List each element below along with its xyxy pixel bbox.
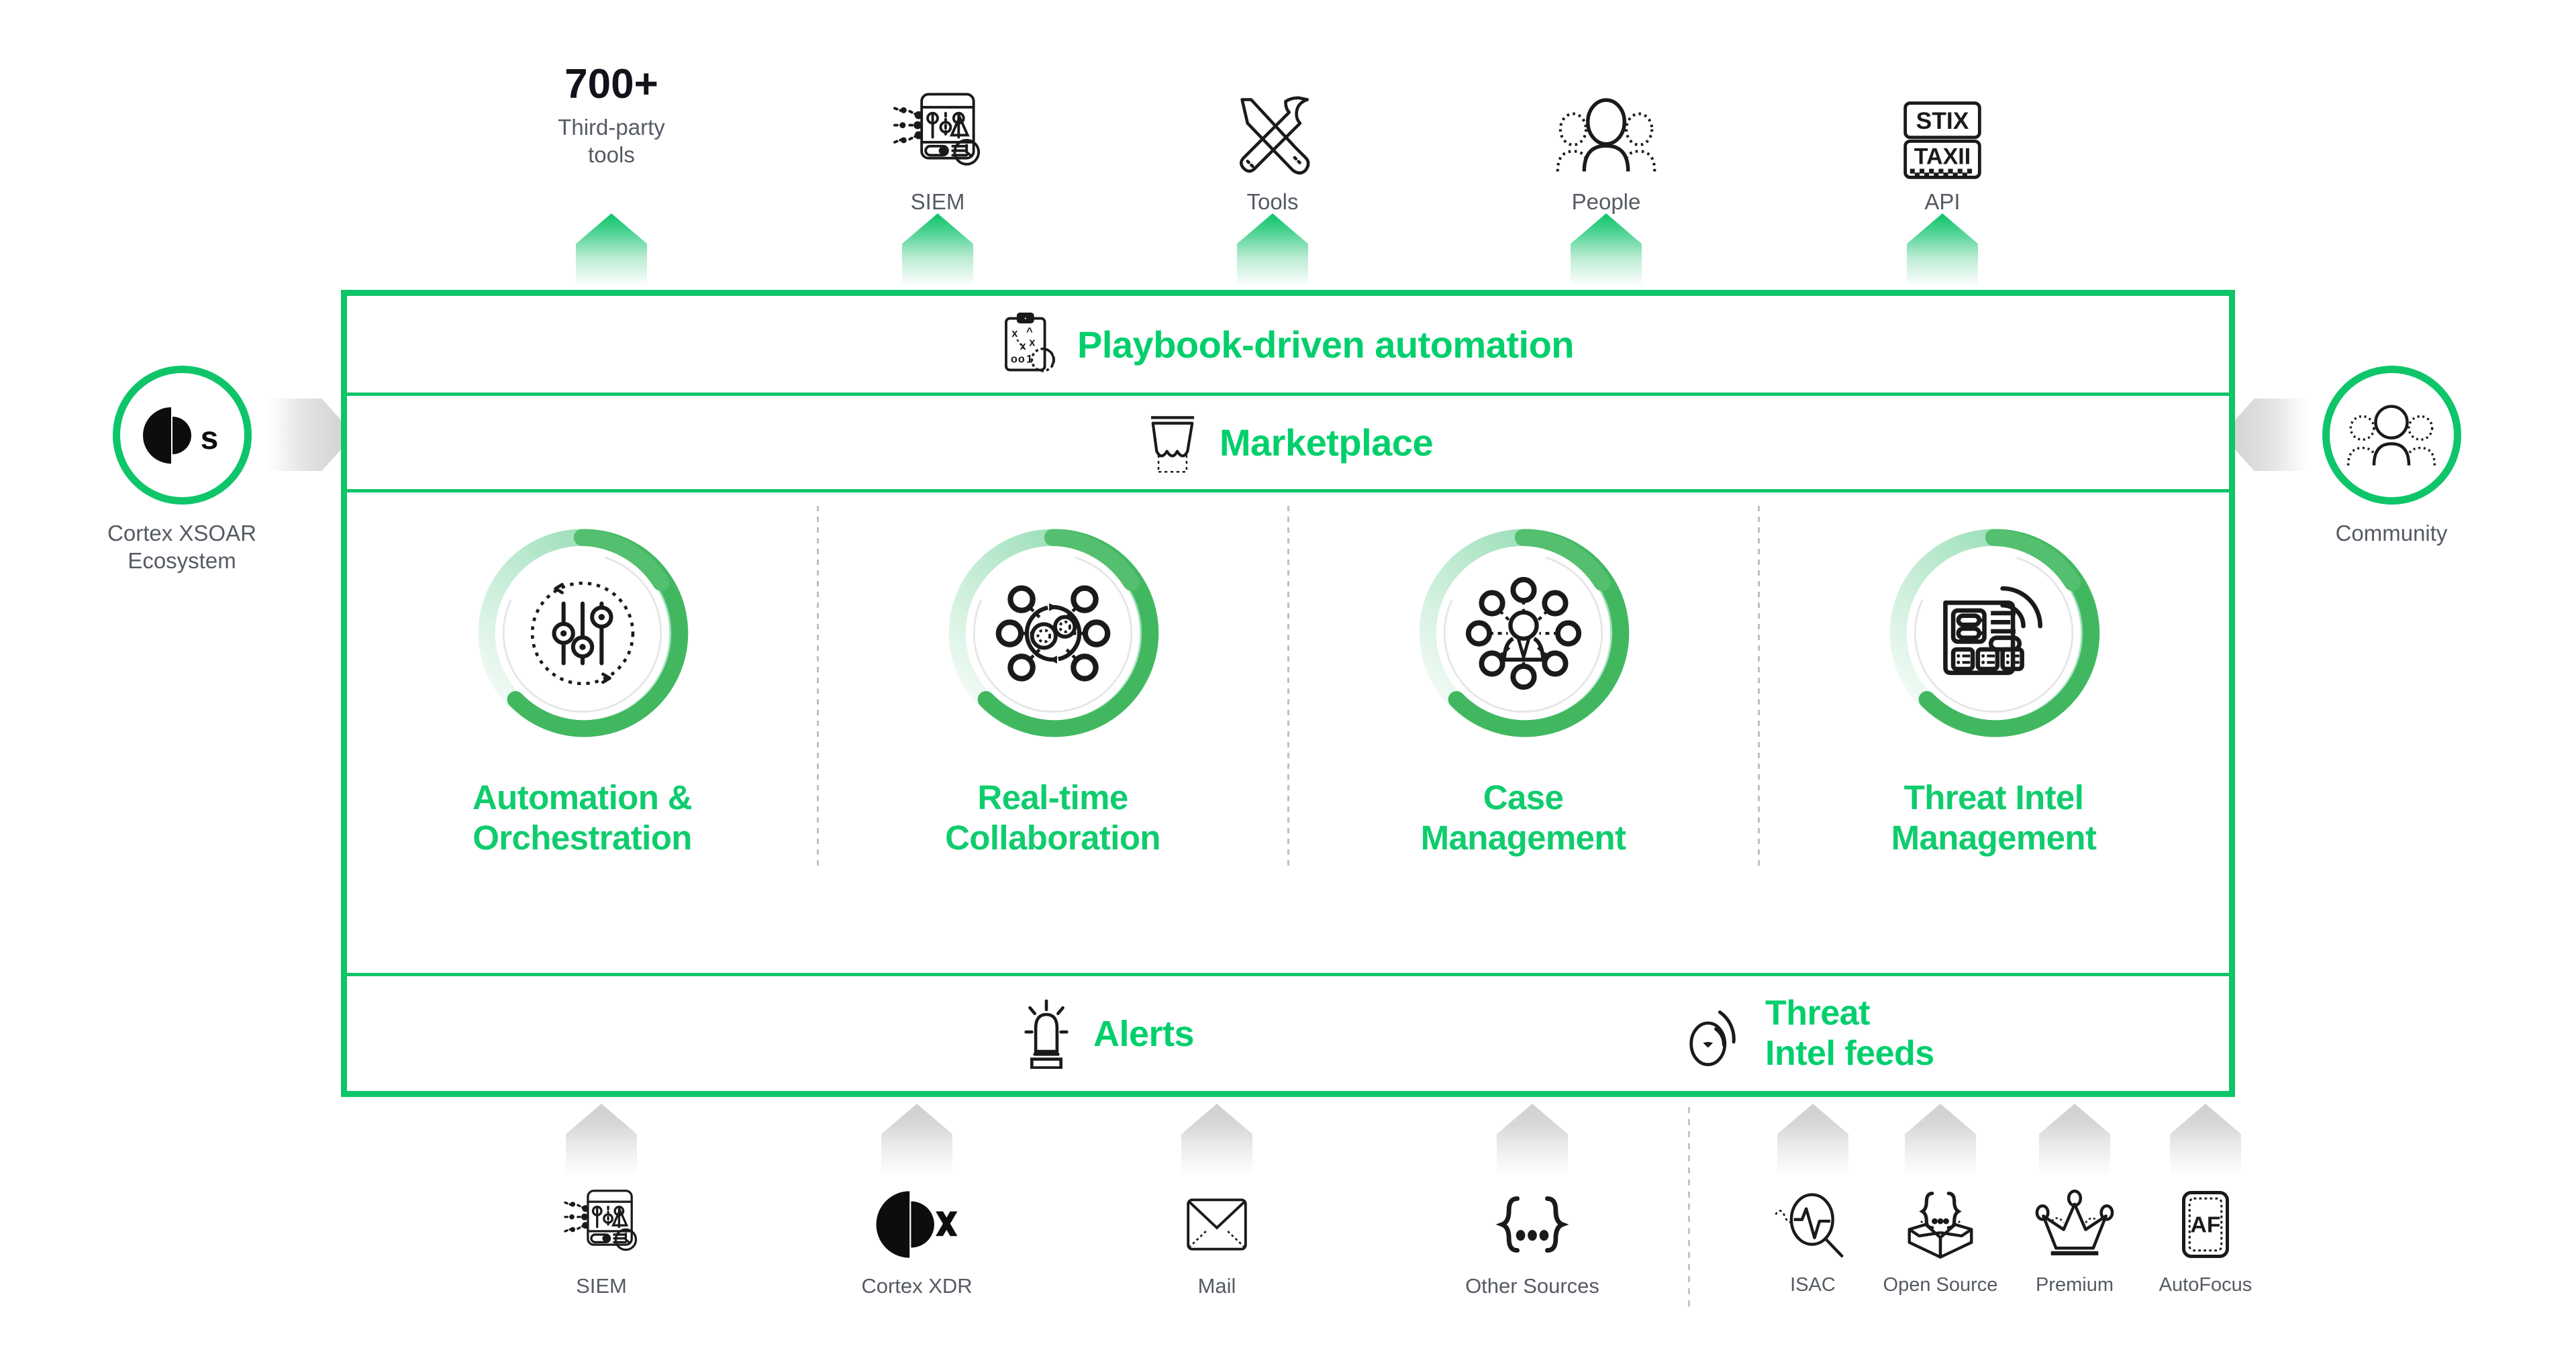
left-node-cortex-xsoar-ecosystem: s Cortex XSOAR Ecosystem <box>68 366 296 575</box>
flow-arrow-up-open-source <box>1905 1104 1976 1176</box>
capability-ring-threat-intel <box>1881 521 2106 745</box>
panel-row-marketplace: Marketplace <box>347 396 2229 489</box>
left-node-label: Cortex XSOAR Ecosystem <box>68 519 296 575</box>
bottom-source-label-cortex-xdr: Cortex XDR <box>816 1274 1018 1298</box>
capability-label-threat-intel: Threat Intel Management <box>1891 778 2097 858</box>
capability-real-time-collaboration[interactable]: Real-time Collaboration <box>818 492 1288 973</box>
threat-intel-card-icon <box>1935 569 2054 688</box>
panel-row-bottom: Alerts Threat <box>347 976 2229 1091</box>
capability-divider-3 <box>1758 506 1760 868</box>
top-output-label-api: API <box>1842 188 2043 215</box>
third-party-count: 700+ <box>511 64 712 105</box>
panel-bottom-alerts: Alerts <box>1018 976 1194 1091</box>
svg-text:s: s <box>201 421 219 456</box>
taxii-badge-text: TAXII <box>1914 144 1971 169</box>
sliders-rotate-icon <box>526 576 640 690</box>
svg-text:x: x <box>1011 327 1018 339</box>
community-people-icon <box>2344 401 2438 470</box>
capability-columns: Automation & Orchestration <box>347 492 2229 973</box>
top-output-label-siem: SIEM <box>837 188 1038 215</box>
autofocus-af-icon: AF <box>2105 1184 2306 1265</box>
bottom-source-label-mail: Mail <box>1116 1274 1318 1298</box>
xsoar-platform-panel: x^ xx oo1 Playbook-driven automation <box>341 290 2235 1097</box>
playbook-clipboard-icon: x^ xx oo1 <box>1002 312 1060 376</box>
capability-divider-1 <box>817 506 819 868</box>
feed-wave-icon <box>1686 998 1748 1069</box>
svg-text:^: ^ <box>1026 325 1033 337</box>
flow-arrow-up-api <box>1907 213 1978 286</box>
flow-arrow-up-siem-source <box>566 1104 637 1176</box>
flow-arrow-up-other-sources <box>1497 1104 1568 1176</box>
capability-threat-intel-management[interactable]: Threat Intel Management <box>1758 492 2229 973</box>
siem-dashboard-icon <box>837 64 1038 181</box>
capability-ring-collaboration <box>940 521 1165 745</box>
wrench-screwdriver-icon <box>1172 64 1373 181</box>
flow-arrow-up-siem <box>902 213 973 286</box>
bottom-source-mail: Mail <box>1116 1184 1318 1298</box>
top-output-api: STIX TAXII API <box>1842 64 2043 215</box>
flow-arrow-up-tools <box>1237 213 1308 286</box>
panel-row-playbook: x^ xx oo1 Playbook-driven automation <box>347 296 2229 393</box>
analyst-network-icon <box>1463 573 1584 694</box>
svg-text:x: x <box>1020 340 1027 352</box>
flow-arrow-up-third-party <box>576 213 647 286</box>
bottom-source-label-other: Other Sources <box>1432 1274 1633 1298</box>
top-output-label-tools: Tools <box>1172 188 1373 215</box>
siren-alert-icon <box>1018 999 1075 1069</box>
panel-bottom-title-threat-feeds: Threat Intel feeds <box>1765 994 1934 1074</box>
capability-label-collaboration: Real-time Collaboration <box>945 778 1160 858</box>
right-node-label: Community <box>2277 519 2506 547</box>
third-party-label: Third-party tools <box>511 113 712 169</box>
top-output-label-people: People <box>1505 188 1707 215</box>
flow-arrow-up-isac <box>1777 1104 1848 1176</box>
cortex-xsoar-logo-circle: s <box>113 366 252 505</box>
siem-dashboard-icon <box>501 1184 702 1265</box>
diagram-canvas: 700+ Third-party tools <box>0 0 2576 1358</box>
bottom-source-label-autofocus: AutoFocus <box>2105 1274 2306 1296</box>
people-group-icon <box>1505 64 1707 181</box>
capability-ring-automation <box>470 521 695 745</box>
capability-label-automation: Automation & Orchestration <box>473 778 692 858</box>
braces-ellipsis-icon <box>1432 1184 1633 1265</box>
stix-badge-text: STIX <box>1916 107 1969 134</box>
right-node-community: Community <box>2277 366 2506 547</box>
svg-text:o: o <box>1011 353 1018 365</box>
bottom-source-siem: SIEM <box>501 1184 702 1298</box>
bottom-source-label-siem: SIEM <box>501 1274 702 1298</box>
top-output-siem: SIEM <box>837 64 1038 215</box>
capability-case-management[interactable]: Case Management <box>1288 492 1758 973</box>
bottom-source-cortex-xdr: Cortex XDR <box>816 1184 1018 1298</box>
capability-label-case: Case Management <box>1421 778 1626 858</box>
capability-ring-case <box>1411 521 1636 745</box>
top-output-third-party-tools: 700+ Third-party tools <box>511 64 712 169</box>
gears-network-icon <box>993 573 1113 694</box>
autofocus-badge-text: AF <box>2191 1212 2221 1237</box>
panel-bottom-threat-intel-feeds: Threat Intel feeds <box>1686 976 1934 1091</box>
top-output-tools: Tools <box>1172 64 1373 215</box>
flow-arrow-up-mail <box>1181 1104 1252 1176</box>
top-output-people: People <box>1505 64 1707 215</box>
panel-row-title-playbook: Playbook-driven automation <box>1077 323 1574 366</box>
bottom-source-autofocus: AF AutoFocus <box>2105 1184 2306 1296</box>
marketplace-awning-icon <box>1143 412 1202 474</box>
flow-arrow-up-autofocus <box>2170 1104 2241 1176</box>
bottom-source-group-divider <box>1688 1107 1690 1308</box>
panel-row-title-marketplace: Marketplace <box>1220 421 1433 464</box>
cortex-xdr-logo-icon <box>816 1184 1018 1265</box>
svg-text:x: x <box>1029 337 1036 349</box>
svg-text:o: o <box>1018 353 1025 365</box>
flow-arrow-up-cortex-xdr <box>881 1104 952 1176</box>
capability-divider-2 <box>1287 506 1289 868</box>
community-icon-circle <box>2322 366 2461 505</box>
envelope-icon <box>1116 1184 1318 1265</box>
bottom-source-other: Other Sources <box>1432 1184 1633 1298</box>
flow-arrow-up-premium <box>2039 1104 2110 1176</box>
panel-bottom-title-alerts: Alerts <box>1093 1013 1194 1055</box>
capability-automation-orchestration[interactable]: Automation & Orchestration <box>347 492 818 973</box>
stix-taxii-icon: STIX TAXII <box>1842 64 2043 181</box>
cortex-xsoar-logo-icon: s <box>140 405 224 466</box>
flow-arrow-up-people <box>1571 213 1642 286</box>
